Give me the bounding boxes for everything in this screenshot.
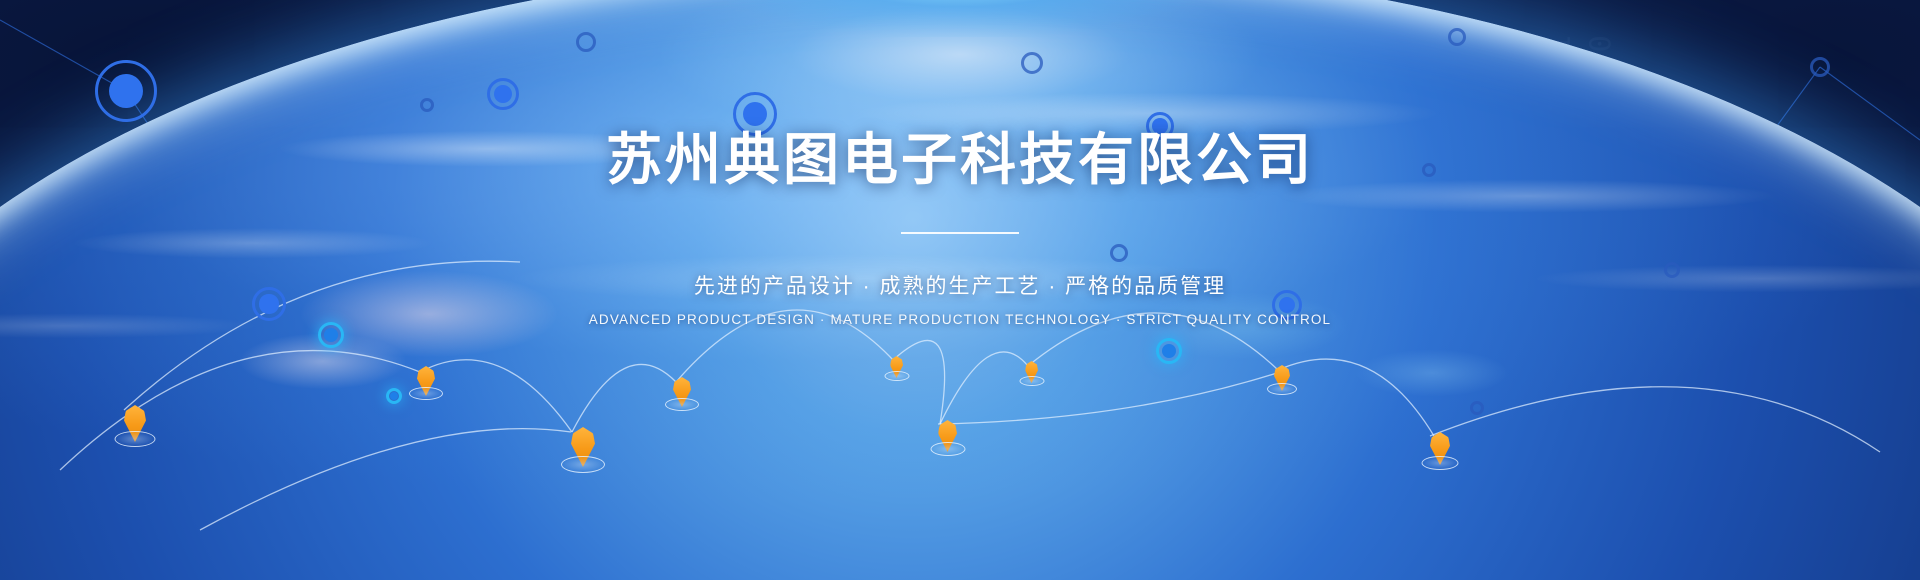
map-pin-halo: [1422, 456, 1459, 470]
map-pin-halo: [561, 456, 605, 473]
map-pin-3[interactable]: [571, 427, 595, 473]
tagline-chinese: 先进的产品设计 · 成熟的生产工艺 · 严格的品质管理: [0, 270, 1920, 300]
map-pin-9[interactable]: [1430, 432, 1450, 470]
map-pin-halo: [665, 398, 699, 411]
map-pin-8[interactable]: [1274, 365, 1290, 395]
map-pin-halo: [1267, 383, 1297, 395]
title-divider: [901, 232, 1019, 234]
map-pin-halo: [1019, 376, 1044, 386]
map-pin-4[interactable]: [673, 377, 691, 411]
map-pin-7[interactable]: [1025, 361, 1038, 386]
hero-text-block: 苏州典图电子科技有限公司 先进的产品设计 · 成熟的生产工艺 · 严格的品质管理…: [0, 128, 1920, 327]
map-pin-6[interactable]: [938, 420, 957, 456]
tagline-english: ADVANCED PRODUCT DESIGN · MATURE PRODUCT…: [0, 312, 1920, 327]
map-pin-5[interactable]: [890, 356, 903, 381]
map-pin-1[interactable]: [124, 405, 146, 447]
map-pin-halo: [930, 442, 965, 456]
map-pin-halo: [409, 387, 443, 400]
map-pin-2[interactable]: [417, 366, 435, 400]
map-pin-halo: [884, 371, 909, 381]
map-pin-halo: [115, 431, 156, 447]
hero-banner: 1 0 1 0 0 1 1 0 1 0 1 1 0 0 1 0 1 0 1 1 …: [0, 0, 1920, 580]
page-title: 苏州典图电子科技有限公司: [0, 128, 1920, 192]
